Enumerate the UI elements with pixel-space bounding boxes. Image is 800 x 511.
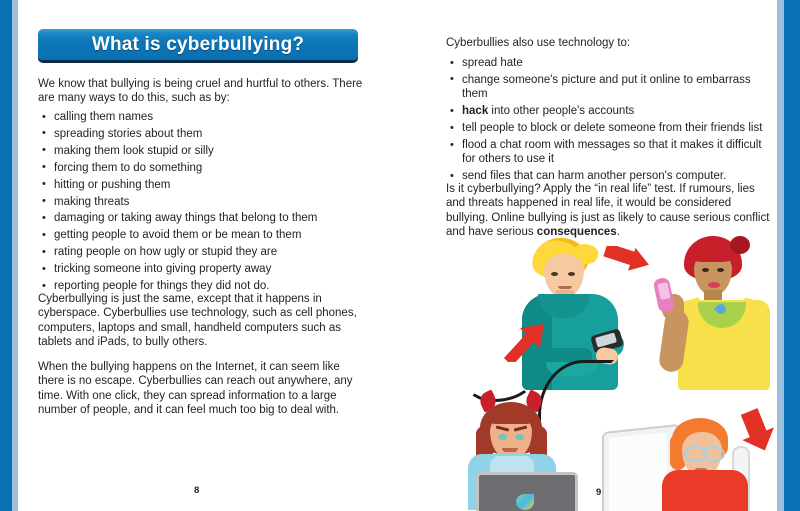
upset-boy-sleeve — [662, 504, 696, 511]
list-item-text: into other people's accounts — [491, 105, 634, 117]
list-item-text: send files that can harm another person'… — [462, 170, 726, 182]
boy-eye-right — [568, 272, 575, 276]
page-edge-band-right-light — [777, 0, 784, 511]
page-edge-band-left-light — [12, 0, 18, 511]
red-arrow-down — [738, 408, 778, 454]
page-edge-band-right-solid — [784, 0, 800, 511]
red-arrow-right — [602, 246, 654, 282]
list-item: hitting or pushing them — [38, 178, 368, 192]
list-item-bold-prefix: hack — [462, 105, 488, 117]
upset-boy-glasses-right — [703, 446, 725, 462]
page-spread: What is cyberbullying? We know that bull… — [0, 0, 800, 511]
devil-girl-mouth — [502, 448, 518, 452]
page-edge-band-left-solid — [0, 0, 12, 511]
left-bullet-list: calling them names spreading stories abo… — [38, 110, 368, 296]
list-item: change someone's picture and put it onli… — [446, 73, 771, 102]
left-column: We know that bullying is being cruel and… — [38, 0, 368, 511]
list-item: rating people on how ugly or stupid they… — [38, 245, 368, 259]
list-item: getting people to avoid them or be mean … — [38, 228, 368, 242]
left-paragraph-3: When the bullying happens on the Interne… — [38, 360, 368, 418]
devil-girl-fringe — [486, 408, 536, 424]
page-number-right: 9 — [596, 487, 601, 498]
devil-girl-eye-left — [498, 434, 507, 440]
page-number-left: 8 — [194, 485, 199, 496]
left-paragraph-2: Cyberbullying is just the same, except t… — [38, 292, 368, 350]
girl-eye-left — [702, 268, 709, 272]
list-item-text: spread hate — [462, 57, 523, 69]
list-item: tell people to block or delete someone f… — [446, 121, 771, 135]
list-item: spread hate — [446, 56, 771, 70]
list-item-hack: hack into other people's accounts — [446, 104, 771, 118]
monitor-screen — [609, 432, 667, 511]
girl-hair-fringe — [690, 246, 734, 262]
cyberbullying-illustration — [446, 236, 776, 511]
boy-eye-left — [551, 272, 558, 276]
connector-swoosh — [466, 356, 536, 402]
list-item: damaging or taking away things that belo… — [38, 211, 368, 225]
list-item: calling them names — [38, 110, 368, 124]
right-intro-paragraph: Cyberbullies also use technology to: — [446, 36, 771, 50]
list-item-text: flood a chat room with messages so that … — [462, 139, 762, 165]
right-bullet-list: spread hate change someone's picture and… — [446, 56, 771, 186]
list-item: forcing them to do something — [38, 161, 368, 175]
devil-girl-eye-right — [515, 434, 524, 440]
list-item: tricking someone into giving property aw… — [38, 262, 368, 276]
list-item-text: change someone's picture and put it onli… — [462, 74, 751, 100]
boy-mouth — [558, 286, 572, 289]
list-item: spreading stories about them — [38, 127, 368, 141]
girl-eye-right — [717, 268, 724, 272]
right-closing-paragraph: Is it cyberbullying? Apply the “in real … — [446, 182, 771, 240]
list-item: making them look stupid or silly — [38, 144, 368, 158]
list-item-text: tell people to block or delete someone f… — [462, 122, 762, 134]
laptop-logo-icon — [516, 494, 534, 510]
list-item: flood a chat room with messages so that … — [446, 138, 771, 167]
girl-mouth — [708, 282, 720, 288]
list-item: making threats — [38, 195, 368, 209]
left-intro-paragraph: We know that bullying is being cruel and… — [38, 77, 368, 106]
